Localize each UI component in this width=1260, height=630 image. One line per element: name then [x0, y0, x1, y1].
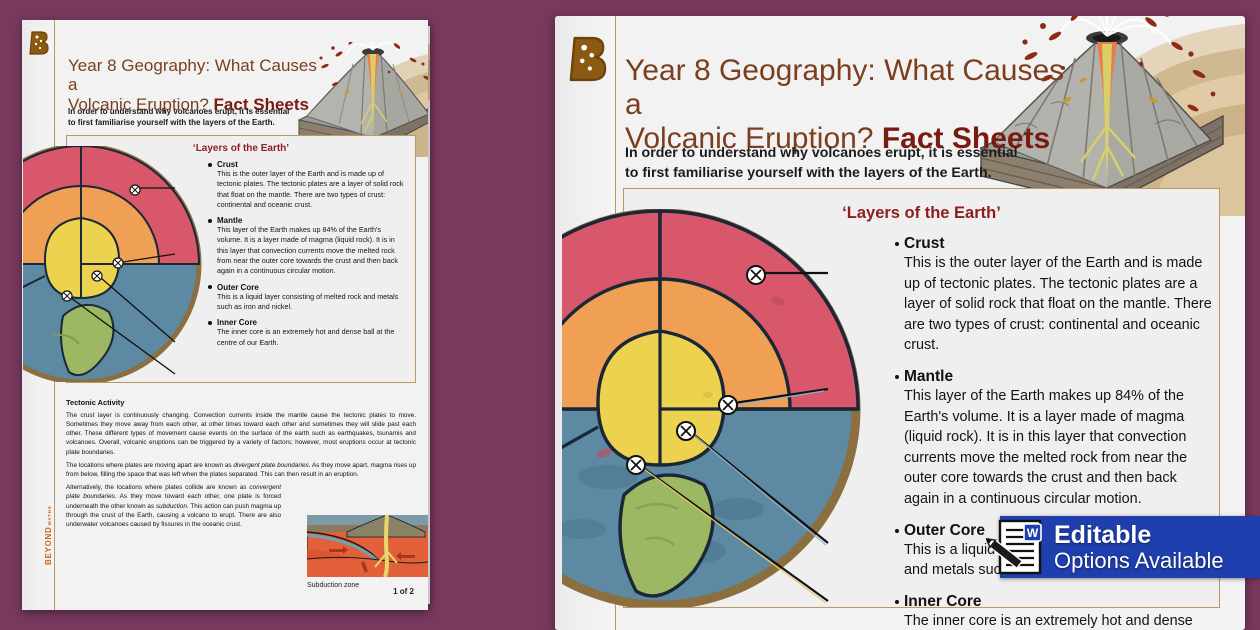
tectonic-p1: The crust layer is continuously changing… — [66, 411, 416, 457]
preview-page-1[interactable]: BEYONDMATHS — [22, 20, 428, 610]
layer-item: Crust This is the outer layer of the Ear… — [904, 235, 1212, 356]
layers-panel: ‘Layers of the Earth’ — [66, 135, 416, 383]
tectonic-activity-section: Tectonic Activity The crust layer is con… — [66, 398, 416, 533]
subduction-diagram — [307, 515, 428, 577]
earth-cross-section — [562, 209, 902, 607]
tectonic-heading: Tectonic Activity — [66, 398, 416, 409]
earth-cross-section — [23, 146, 223, 382]
brand-logo-b — [567, 34, 607, 84]
layers-list: Crust This is the outer layer of the Ear… — [217, 160, 407, 348]
subduction-caption: Subduction zone — [307, 582, 359, 589]
screenshot-root: Eruption? Fact Sheets t until it finally… — [0, 0, 1260, 630]
word-icon-letter: W — [1027, 526, 1039, 540]
layer-item: Mantle This layer of the Earth makes up … — [217, 216, 407, 276]
editable-doc-icon: W — [986, 516, 1048, 578]
layer-item: Inner Core The inner core is an extremel… — [217, 318, 407, 348]
brand-vertical-label: BEYONDMATHS — [44, 506, 53, 565]
editable-options-badge[interactable]: W Editable Options Available — [1000, 516, 1260, 578]
layer-item: Outer Core This is a liquid layer consis… — [217, 283, 407, 313]
layer-item: Inner Core The inner core is an extremel… — [904, 593, 1212, 630]
layer-item: Mantle This layer of the Earth makes up … — [904, 368, 1212, 510]
intro-paragraph: In order to understand why volcanoes eru… — [625, 143, 1045, 183]
page-title: Year 8 Geography: What Causes a Volcanic… — [625, 54, 1065, 157]
page-number-1: 1 of 2 — [393, 587, 414, 596]
badge-text: Editable Options Available — [1054, 522, 1224, 572]
tectonic-p3: Alternatively, the locations where plate… — [66, 483, 281, 529]
intro-paragraph: In order to understand why volcanoes eru… — [68, 106, 318, 129]
brand-logo-b — [28, 30, 49, 56]
tectonic-p2: The locations where plates are moving ap… — [66, 461, 416, 479]
layer-item: Crust This is the outer layer of the Ear… — [217, 160, 407, 210]
